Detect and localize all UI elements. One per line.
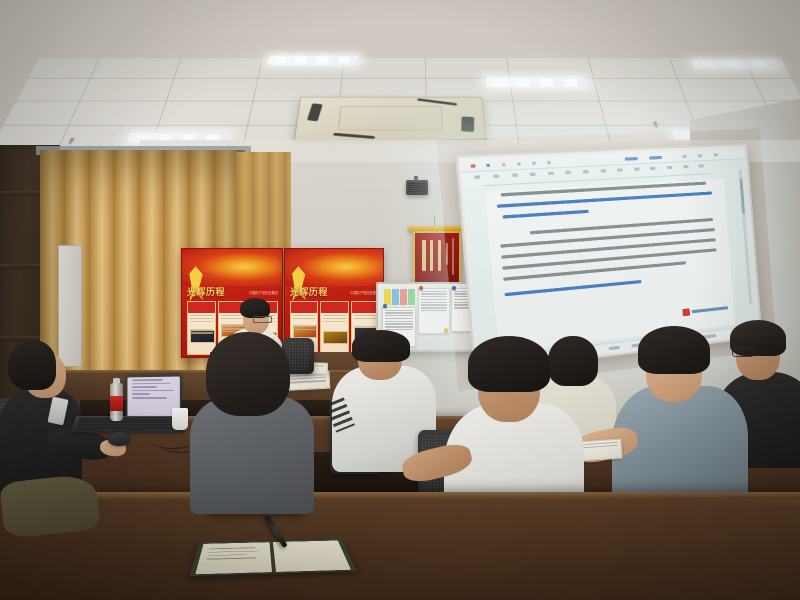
meeting-room-photo: 光辉历程 中国共产党历史展览 光辉历程 中国共产党历史展览 xyxy=(0,0,800,600)
poster-subtitle: 中国共产党历史展览 xyxy=(350,292,379,295)
presenter-hair xyxy=(240,298,270,318)
front-table xyxy=(0,492,800,600)
air-conditioner-unit xyxy=(294,97,487,141)
open-notebook[interactable] xyxy=(195,540,351,574)
bottle-cap xyxy=(113,378,120,383)
paper-sheet xyxy=(577,438,622,461)
blazer-hair xyxy=(206,332,290,416)
white-shirt-hair xyxy=(468,336,550,392)
poster-title: 光辉历程 xyxy=(290,288,328,297)
laptop-user-hair xyxy=(8,340,56,390)
mouse[interactable] xyxy=(108,432,130,446)
logo-mark-icon xyxy=(683,308,691,316)
speaker-mount xyxy=(414,176,418,181)
magnet xyxy=(419,286,423,290)
magnet xyxy=(452,286,456,290)
poster-title: 光辉历程 xyxy=(187,288,225,297)
laptop-user-trousers xyxy=(0,473,101,539)
sprinkler-head xyxy=(653,122,657,125)
award-pennant-banner xyxy=(413,231,461,285)
sticky-note-group xyxy=(384,289,415,305)
poster-subtitle: 中国共产党历史展览 xyxy=(249,292,278,295)
sprinkler-head xyxy=(70,138,75,141)
ceiling-light xyxy=(268,56,358,64)
gray-tee-hair xyxy=(638,326,710,374)
wall-mounted-speaker xyxy=(406,180,428,195)
ceiling-light xyxy=(693,61,779,68)
bottle-label xyxy=(110,396,123,411)
person-blazer xyxy=(186,332,316,514)
magnet xyxy=(444,328,448,332)
notebook-page-left xyxy=(195,542,272,574)
ceiling-light xyxy=(486,78,587,87)
presenter-glasses-icon xyxy=(253,316,272,323)
magnet xyxy=(383,304,387,308)
white-tee-hair xyxy=(352,330,410,362)
water-bottle[interactable] xyxy=(110,383,123,421)
